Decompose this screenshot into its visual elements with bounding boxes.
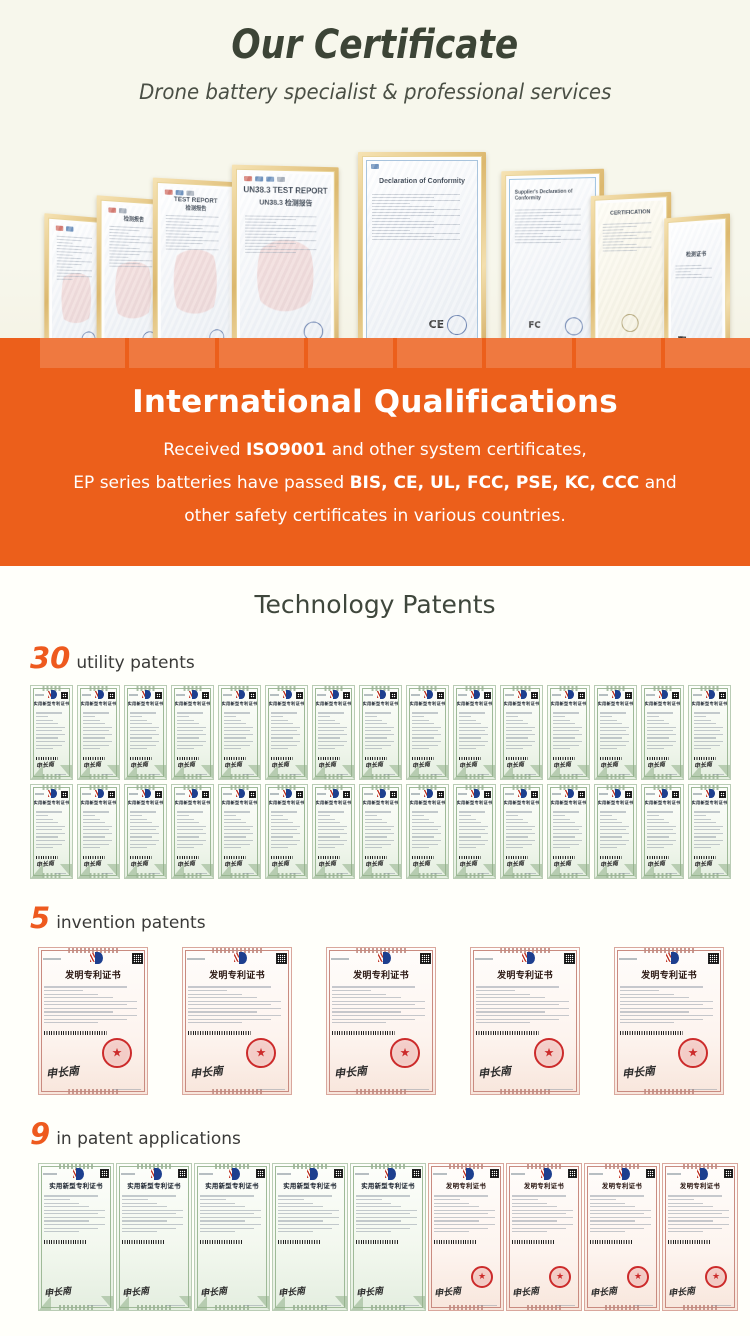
certificate-number <box>646 694 655 696</box>
corner-ornament-right-icon <box>257 1296 269 1310</box>
signature: 申⻓南 <box>600 858 619 869</box>
patent-office-emblem-icon <box>518 789 528 799</box>
patent-certificate-card[interactable]: 实用新型专利证书申⻓南 <box>171 784 214 879</box>
certificate-page: Our Certificate Drone battery specialist… <box>0 0 750 1336</box>
patent-office-emblem-icon <box>522 952 536 965</box>
signature: 申⻓南 <box>199 1284 227 1300</box>
certificate-number <box>433 1173 447 1175</box>
international-qualifications-band: International Qualifications Received IS… <box>0 338 750 566</box>
patent-certificate-card[interactable]: 实用新型专利证书申⻓南 <box>272 1163 348 1311</box>
band-line1-prefix: Received <box>163 440 246 460</box>
patent-certificate-card[interactable]: 实用新型专利证书申⻓南 <box>594 784 637 879</box>
certificate-number <box>619 958 637 960</box>
patent-office-emblem-icon <box>236 789 246 799</box>
certificate-title-en: CERTIFICATION <box>598 209 663 218</box>
certificate-number <box>270 793 279 795</box>
issue-date <box>337 873 348 874</box>
signature: 申⻓南 <box>647 858 666 869</box>
seal-icon <box>565 317 583 335</box>
patent-certificate-card[interactable]: 实用新型专利证书申⻓南 <box>688 685 731 780</box>
corner-ornament-right-icon <box>179 1296 191 1310</box>
patent-office-emblem-icon <box>378 952 392 965</box>
certificate-title-en: Declaration of Conformity <box>367 178 477 185</box>
issue-date <box>55 774 66 775</box>
certificate-frame-6[interactable]: Supplier's Declaration of Conformity FC <box>501 169 604 366</box>
patent-office-emblem-icon <box>151 1168 163 1179</box>
issue-date <box>525 774 536 775</box>
patent-certificate-card[interactable]: 实用新型专利证书申⻓南 <box>453 784 496 879</box>
patent-certificate-card[interactable]: 实用新型专利证书申⻓南 <box>116 1163 192 1311</box>
patent-office-emblem-icon <box>471 789 481 799</box>
certificate-number <box>599 793 608 795</box>
certificate-title-cn: 检测证书 <box>671 249 722 259</box>
issue-date <box>689 1089 717 1090</box>
certificate-number <box>35 793 44 795</box>
group-header-utility: 30 utility patents <box>0 641 750 675</box>
certificate-number <box>35 694 44 696</box>
issue-date <box>713 774 724 775</box>
certificate-number <box>505 694 514 696</box>
certificate-number <box>589 1173 603 1175</box>
issue-date <box>431 774 442 775</box>
patent-certificate-card[interactable]: 实用新型专利证书申⻓南 <box>124 685 167 780</box>
patent-certificate-card[interactable]: 实用新型专利证书申⻓南 <box>265 685 308 780</box>
signature: 申⻓南 <box>43 1284 71 1300</box>
patent-certificate-card[interactable]: 发明专利证书申⻓南 <box>584 1163 660 1311</box>
signature: 申⻓南 <box>477 1062 511 1081</box>
patent-applications-row: 实用新型专利证书申⻓南实用新型专利证书申⻓南实用新型专利证书申⻓南实用新型专利证… <box>0 1163 750 1311</box>
issue-date <box>243 774 254 775</box>
certificate-number <box>667 1173 681 1175</box>
patent-office-emblem-icon <box>424 789 434 799</box>
signature: 申⻓南 <box>365 858 384 869</box>
patent-certificate-card[interactable]: 实用新型专利证书申⻓南 <box>500 685 543 780</box>
issue-date <box>634 1305 653 1306</box>
signature: 申⻓南 <box>412 759 431 770</box>
certificate-number <box>176 694 185 696</box>
page-header: Our Certificate Drone battery specialist… <box>0 0 750 140</box>
issue-date <box>88 1305 107 1306</box>
patents-section-title: Technology Patents <box>0 566 750 619</box>
patent-office-emblem-icon <box>236 690 246 700</box>
patent-certificate-card[interactable]: 实用新型专利证书申⻓南 <box>641 784 684 879</box>
signature: 申⻓南 <box>333 1062 367 1081</box>
patent-office-emblem-icon <box>385 1168 397 1179</box>
patent-certificate-card[interactable]: 实用新型专利证书申⻓南 <box>359 685 402 780</box>
issue-date <box>545 1089 573 1090</box>
patent-office-emblem-icon <box>48 789 58 799</box>
ornament-bottom-icon <box>212 1089 262 1094</box>
patent-certificate-card[interactable]: 实用新型专利证书申⻓南 <box>30 784 73 879</box>
patent-office-emblem-icon <box>73 1168 85 1179</box>
utility-patent-label: utility patents <box>76 653 194 673</box>
signature: 申⻓南 <box>412 858 431 869</box>
patent-certificate-card[interactable]: 实用新型专利证书申⻓南 <box>265 784 308 879</box>
patent-office-emblem-icon <box>142 690 152 700</box>
issue-date <box>322 1305 341 1306</box>
certificate-number <box>129 694 138 696</box>
official-red-seal-icon <box>678 1038 708 1068</box>
patent-certificate-card[interactable]: 实用新型专利证书申⻓南 <box>688 784 731 879</box>
patent-office-emblem-icon <box>142 789 152 799</box>
issue-date <box>556 1305 575 1306</box>
official-red-seal-icon <box>471 1266 493 1288</box>
patent-certificate-card[interactable]: 实用新型专利证书申⻓南 <box>500 784 543 879</box>
invention-patent-label: invention patents <box>56 913 205 933</box>
patent-office-emblem-icon <box>565 690 575 700</box>
issue-date <box>290 774 301 775</box>
issue-date <box>400 1305 419 1306</box>
patent-certificate-card[interactable]: 实用新型专利证书申⻓南 <box>406 685 449 780</box>
issue-date <box>478 1305 497 1306</box>
signature: 申⻓南 <box>177 858 196 869</box>
issue-date <box>243 873 254 874</box>
band-line1-highlight: ISO9001 <box>246 440 326 460</box>
certificate-number <box>505 793 514 795</box>
signature: 申⻓南 <box>647 759 666 770</box>
signature: 申⻓南 <box>224 858 243 869</box>
patent-office-emblem-icon <box>666 952 680 965</box>
patent-office-emblem-icon <box>541 1168 553 1179</box>
signature: 申⻓南 <box>511 1284 539 1300</box>
patent-certificate-card[interactable]: 发明专利证书申⻓南 <box>326 947 436 1095</box>
patent-office-emblem-icon <box>330 789 340 799</box>
signature: 申⻓南 <box>189 1062 223 1081</box>
issue-date <box>666 774 677 775</box>
patent-certificate-card[interactable]: 实用新型专利证书申⻓南 <box>547 784 590 879</box>
certificate-number <box>511 1173 525 1175</box>
patent-office-emblem-icon <box>659 690 669 700</box>
issue-date <box>244 1305 263 1306</box>
issue-date <box>55 873 66 874</box>
signature: 申⻓南 <box>36 858 55 869</box>
signature: 申⻓南 <box>36 759 55 770</box>
certificate-number <box>693 694 702 696</box>
band-title: International Qualifications <box>0 384 750 420</box>
ornament-bottom-icon <box>68 1089 118 1094</box>
patent-certificate-card[interactable]: 实用新型专利证书申⻓南 <box>350 1163 426 1311</box>
patent-office-emblem-icon <box>234 952 248 965</box>
patent-certificate-card[interactable]: 实用新型专利证书申⻓南 <box>77 784 120 879</box>
issue-date <box>149 774 160 775</box>
patent-office-emblem-icon <box>229 1168 241 1179</box>
band-line1-suffix: and other system certificates, <box>326 440 586 460</box>
patent-office-emblem-icon <box>612 690 622 700</box>
patent-office-emblem-icon <box>619 1168 631 1179</box>
band-line2-highlight: BIS, CE, UL, FCC, PSE, KC, CCC <box>350 473 640 493</box>
patent-certificate-card[interactable]: 实用新型专利证书申⻓南 <box>312 685 355 780</box>
patent-office-emblem-icon <box>706 789 716 799</box>
official-red-seal-icon <box>534 1038 564 1068</box>
certificate-number <box>176 793 185 795</box>
signature: 申⻓南 <box>600 759 619 770</box>
signature: 申⻓南 <box>45 1062 79 1081</box>
issue-date <box>149 873 160 874</box>
certificate-number <box>277 1173 291 1175</box>
patent-office-emblem-icon <box>307 1168 319 1179</box>
signature: 申⻓南 <box>318 858 337 869</box>
signature: 申⻓南 <box>694 858 713 869</box>
patent-certificate-card[interactable]: 发明专利证书申⻓南 <box>614 947 724 1095</box>
group-header-applications: 9 in patent applications <box>0 1117 750 1151</box>
patent-certificate-card[interactable]: 实用新型专利证书申⻓南 <box>77 685 120 780</box>
certificate-title-cn: 检测报告 <box>161 203 230 214</box>
certificate-number <box>270 694 279 696</box>
issue-date <box>196 873 207 874</box>
patent-certificate-card[interactable]: 实用新型专利证书申⻓南 <box>359 784 402 879</box>
signature: 申⻓南 <box>459 858 478 869</box>
patent-certificate-card[interactable]: 实用新型专利证书申⻓南 <box>453 685 496 780</box>
issue-date <box>102 774 113 775</box>
patent-certificate-card[interactable]: 实用新型专利证书申⻓南 <box>218 784 261 879</box>
certificate-number <box>223 694 232 696</box>
certificate-number <box>552 793 561 795</box>
certificate-number <box>364 694 373 696</box>
signature: 申⻓南 <box>271 759 290 770</box>
ornament-bottom-icon <box>500 1089 550 1094</box>
certificate-number <box>355 1173 369 1175</box>
patent-certificate-card[interactable]: 实用新型专利证书申⻓南 <box>547 685 590 780</box>
certificate-number <box>693 793 702 795</box>
patent-certificate-card[interactable]: 发明专利证书申⻓南 <box>38 947 148 1095</box>
patent-office-emblem-icon <box>95 690 105 700</box>
patent-office-emblem-icon <box>377 690 387 700</box>
patent-office-emblem-icon <box>48 690 58 700</box>
certificate-number <box>43 1173 57 1175</box>
page-subtitle: Drone battery specialist & professional … <box>139 80 611 104</box>
patent-office-emblem-icon <box>659 789 669 799</box>
certificate-number <box>411 694 420 696</box>
signature: 申⻓南 <box>130 858 149 869</box>
official-red-seal-icon <box>705 1266 727 1288</box>
patent-office-emblem-icon <box>565 789 575 799</box>
signature: 申⻓南 <box>130 759 149 770</box>
patent-certificate-card[interactable]: 发明专利证书申⻓南 <box>506 1163 582 1311</box>
signature: 申⻓南 <box>83 858 102 869</box>
signature: 申⻓南 <box>459 759 478 770</box>
patent-certificate-card[interactable]: 实用新型专利证书申⻓南 <box>312 784 355 879</box>
issue-date <box>431 873 442 874</box>
official-red-seal-icon <box>102 1038 132 1068</box>
certificate-number <box>458 793 467 795</box>
patent-certificate-card[interactable]: 实用新型专利证书申⻓南 <box>594 685 637 780</box>
certificate-number <box>43 958 61 960</box>
issue-date <box>384 873 395 874</box>
certificate-title-cn: UN38.3 检测报告 <box>240 197 331 208</box>
certificate-title-en: Supplier's Declaration of Conformity <box>510 188 595 202</box>
certificate-number <box>646 793 655 795</box>
official-red-seal-icon <box>627 1266 649 1288</box>
issue-date <box>257 1089 285 1090</box>
signature: 申⻓南 <box>433 1284 461 1300</box>
application-label: in patent applications <box>56 1129 241 1149</box>
corner-ornament-right-icon <box>335 1296 347 1310</box>
issue-date <box>337 774 348 775</box>
certificate-number <box>411 793 420 795</box>
patent-certificate-card[interactable]: 实用新型专利证书申⻓南 <box>171 685 214 780</box>
issue-date <box>478 774 489 775</box>
patent-office-emblem-icon <box>463 1168 475 1179</box>
certificate-number <box>187 958 205 960</box>
official-red-seal-icon <box>390 1038 420 1068</box>
fcc-mark-icon: FC <box>528 321 540 331</box>
signature: 申⻓南 <box>224 759 243 770</box>
group-header-invention: 5 invention patents <box>0 901 750 935</box>
issue-date <box>290 873 301 874</box>
ornament-bottom-icon <box>356 1089 406 1094</box>
certificate-number <box>475 958 493 960</box>
issue-date <box>572 873 583 874</box>
certificate-title-en: TEST REPORT <box>161 195 230 205</box>
seal-icon <box>447 315 467 335</box>
utility-patent-count: 30 <box>30 641 70 675</box>
certificate-title-en: UN38.3 TEST REPORT <box>240 185 331 196</box>
certificate-number <box>331 958 349 960</box>
certificate-number <box>121 1173 135 1175</box>
patent-office-emblem-icon <box>377 789 387 799</box>
patent-office-emblem-icon <box>471 690 481 700</box>
issue-date <box>113 1089 141 1090</box>
issue-date <box>572 774 583 775</box>
issue-date <box>196 774 207 775</box>
patent-certificate-card[interactable]: 实用新型专利证书申⻓南 <box>194 1163 270 1311</box>
certificate-number <box>129 793 138 795</box>
issue-date <box>713 873 724 874</box>
certificate-frame-5[interactable]: Declaration of Conformity CE <box>358 152 486 366</box>
patent-certificate-card[interactable]: 实用新型专利证书申⻓南 <box>406 784 449 879</box>
signature: 申⻓南 <box>553 858 572 869</box>
patent-office-emblem-icon <box>518 690 528 700</box>
certificate-frame-4[interactable]: UN38.3 TEST REPORT UN38.3 检测报告 <box>232 165 339 366</box>
patent-certificate-card[interactable]: 实用新型专利证书申⻓南 <box>641 685 684 780</box>
application-count: 9 <box>30 1117 50 1151</box>
certificate-number <box>199 1173 213 1175</box>
official-red-seal-icon <box>246 1038 276 1068</box>
certificate-number <box>317 694 326 696</box>
issue-date <box>619 873 630 874</box>
patent-office-emblem-icon <box>283 690 293 700</box>
patent-office-emblem-icon <box>283 789 293 799</box>
issue-date <box>525 873 536 874</box>
patent-office-emblem-icon <box>95 789 105 799</box>
signature: 申⻓南 <box>177 759 196 770</box>
issue-date <box>401 1089 429 1090</box>
certificate-number <box>223 793 232 795</box>
official-red-seal-icon <box>549 1266 571 1288</box>
issue-date <box>619 774 630 775</box>
issue-date <box>478 873 489 874</box>
issue-date <box>166 1305 185 1306</box>
invention-patents-row: 发明专利证书申⻓南发明专利证书申⻓南发明专利证书申⻓南发明专利证书申⻓南发明专利… <box>0 947 750 1095</box>
signature: 申⻓南 <box>694 759 713 770</box>
patent-certificate-card[interactable]: 实用新型专利证书申⻓南 <box>30 685 73 780</box>
issue-date <box>712 1305 731 1306</box>
patent-certificate-card[interactable]: 实用新型专利证书申⻓南 <box>124 784 167 879</box>
band-line2-prefix: EP series batteries have passed <box>73 473 349 493</box>
certificate-number <box>317 793 326 795</box>
signature: 申⻓南 <box>121 1284 149 1300</box>
signature: 申⻓南 <box>83 759 102 770</box>
seal-icon <box>621 314 638 332</box>
signature: 申⻓南 <box>318 759 337 770</box>
band-line2-suffix: and <box>639 473 676 493</box>
certificate-number <box>458 694 467 696</box>
certificate-number <box>552 694 561 696</box>
signature: 申⻓南 <box>621 1062 655 1081</box>
invention-patent-count: 5 <box>30 901 50 935</box>
patent-office-emblem-icon <box>90 952 104 965</box>
signature: 申⻓南 <box>506 759 525 770</box>
ce-mark-icon: CE <box>429 318 445 331</box>
page-title: Our Certificate <box>232 22 519 68</box>
corner-ornament-right-icon <box>101 1296 113 1310</box>
signature: 申⻓南 <box>271 858 290 869</box>
utility-patents-grid: 实用新型专利证书申⻓南实用新型专利证书申⻓南实用新型专利证书申⻓南实用新型专利证… <box>0 685 750 879</box>
certificate-number <box>364 793 373 795</box>
signature: 申⻓南 <box>506 858 525 869</box>
patent-certificate-card[interactable]: 发明专利证书申⻓南 <box>470 947 580 1095</box>
patent-certificate-card[interactable]: 发明专利证书申⻓南 <box>662 1163 738 1311</box>
patent-office-emblem-icon <box>612 789 622 799</box>
patent-certificate-card[interactable]: 实用新型专利证书申⻓南 <box>38 1163 114 1311</box>
patent-office-emblem-icon <box>706 690 716 700</box>
certificate-wall: 检测报告 TEST REPORT 检测报告 <box>0 138 750 366</box>
signature: 申⻓南 <box>589 1284 617 1300</box>
band-line3: other safety certificates in various cou… <box>184 506 566 526</box>
issue-date <box>102 873 113 874</box>
issue-date <box>384 774 395 775</box>
patent-certificate-card[interactable]: 发明专利证书申⻓南 <box>182 947 292 1095</box>
ornament-bottom-icon <box>644 1089 694 1094</box>
signature: 申⻓南 <box>365 759 384 770</box>
patent-office-emblem-icon <box>189 789 199 799</box>
corner-ornament-right-icon <box>413 1296 425 1310</box>
certificate-number <box>599 694 608 696</box>
signature: 申⻓南 <box>277 1284 305 1300</box>
certificate-number <box>82 793 91 795</box>
patent-office-emblem-icon <box>697 1168 709 1179</box>
issue-date <box>666 873 677 874</box>
patent-office-emblem-icon <box>424 690 434 700</box>
patent-certificate-card[interactable]: 实用新型专利证书申⻓南 <box>218 685 261 780</box>
patent-office-emblem-icon <box>189 690 199 700</box>
signature: 申⻓南 <box>553 759 572 770</box>
signature: 申⻓南 <box>355 1284 383 1300</box>
patent-office-emblem-icon <box>330 690 340 700</box>
band-paragraph: Received ISO9001 and other system certif… <box>0 434 750 533</box>
signature: 申⻓南 <box>667 1284 695 1300</box>
certificate-number <box>82 694 91 696</box>
patent-certificate-card[interactable]: 发明专利证书申⻓南 <box>428 1163 504 1311</box>
technology-patents-section: Technology Patents 30 utility patents 实用… <box>0 566 750 1336</box>
